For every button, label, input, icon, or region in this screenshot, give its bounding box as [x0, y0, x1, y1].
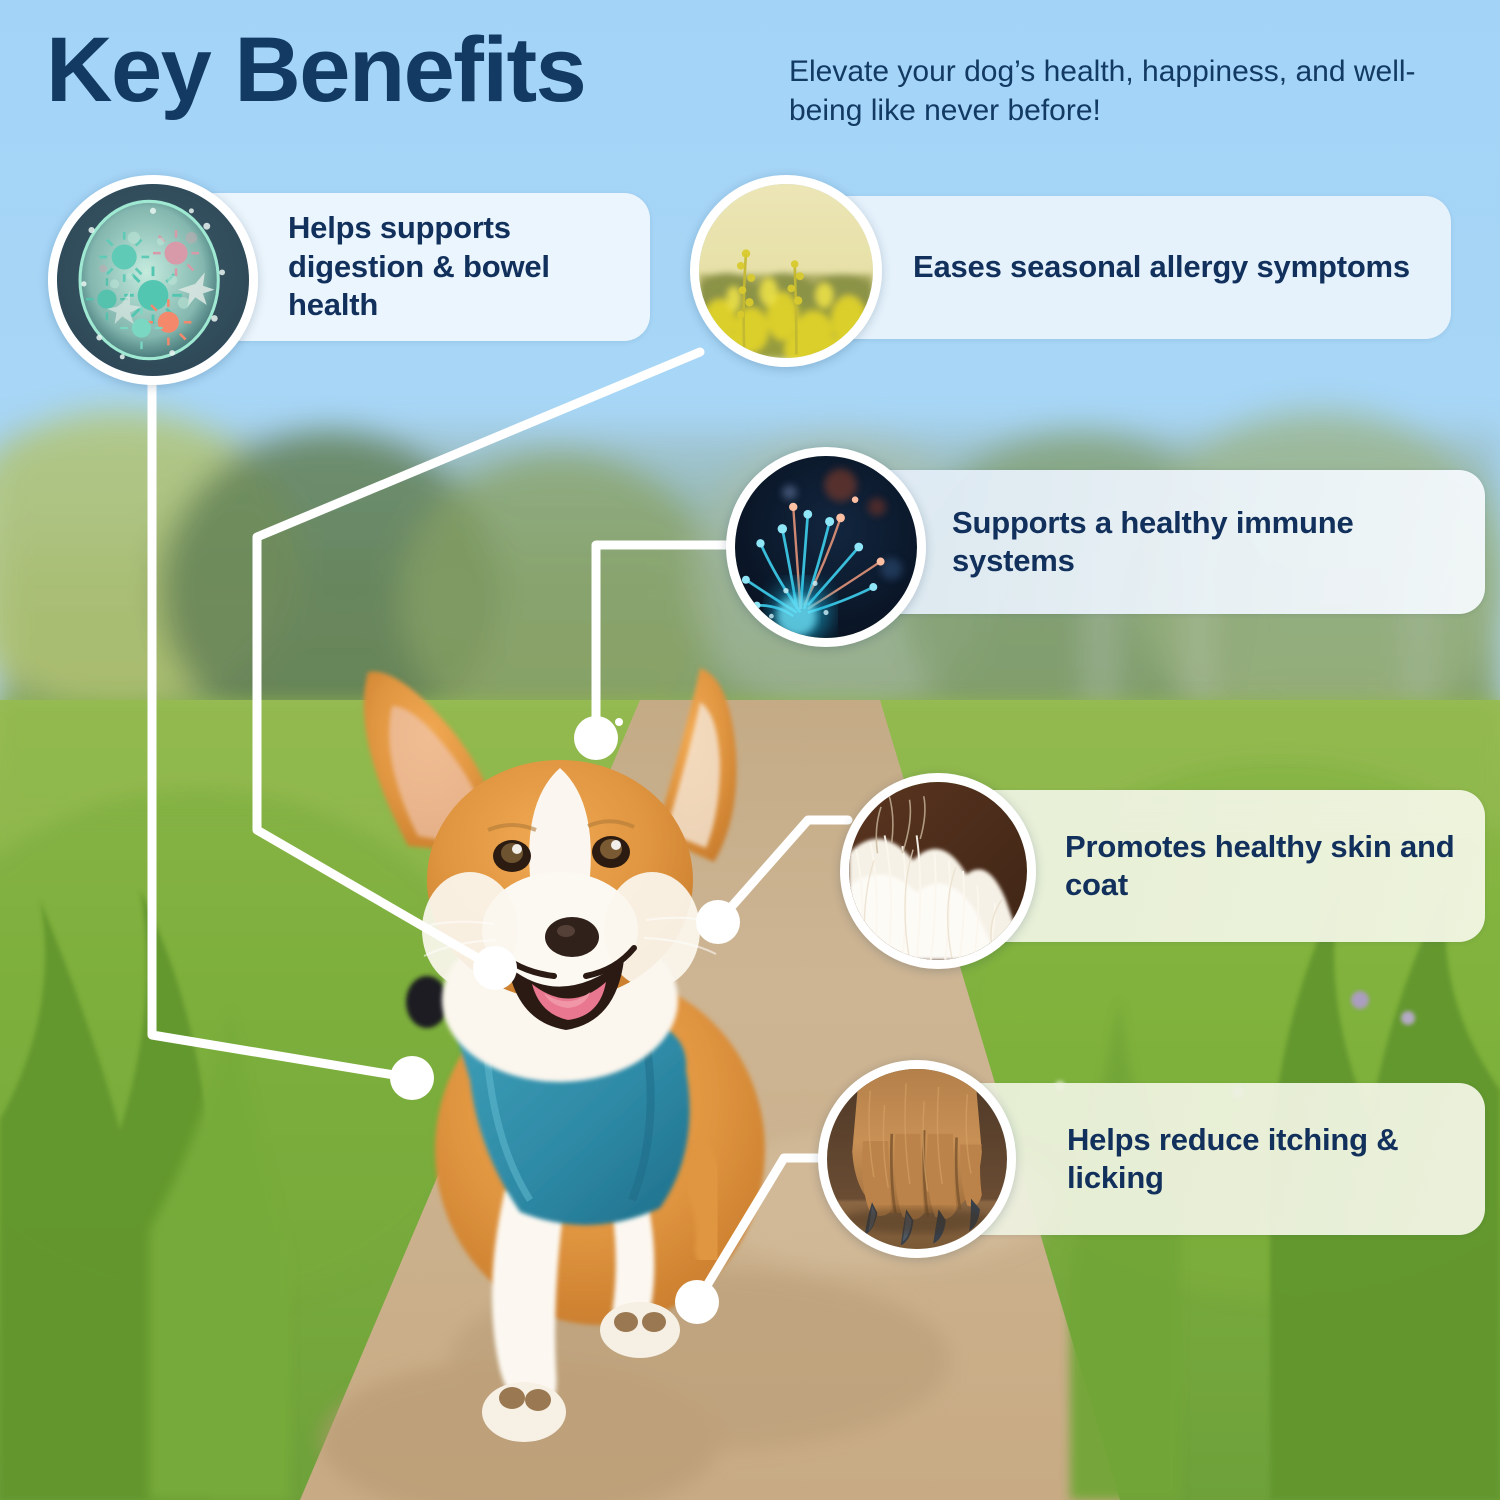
pollen-flowers-icon — [690, 175, 882, 367]
benefit-label-skin-coat: Promotes healthy skin and coat — [1065, 828, 1459, 905]
benefit-card-skin-coat[interactable]: Promotes healthy skin and coat — [965, 790, 1485, 942]
benefit-label-allergy: Eases seasonal allergy symptoms — [913, 248, 1410, 286]
header: Key Benefits Elevate your dog’s health, … — [0, 0, 1500, 175]
benefit-label-immune: Supports a healthy immune systems — [952, 504, 1459, 581]
benefit-card-allergy[interactable]: Eases seasonal allergy symptoms — [808, 196, 1451, 339]
dog-paw-icon — [818, 1060, 1016, 1258]
page-subtitle: Elevate your dog’s health, happiness, an… — [789, 52, 1449, 130]
page-title: Key Benefits — [46, 24, 585, 116]
immune-cell-icon — [726, 447, 926, 647]
benefit-label-digestion: Helps supports digestion & bowel health — [288, 209, 624, 324]
benefit-card-itching[interactable]: Helps reduce itching & licking — [955, 1083, 1485, 1235]
dog-fur-icon — [840, 773, 1036, 969]
benefit-card-immune[interactable]: Supports a healthy immune systems — [845, 470, 1485, 614]
benefit-label-itching: Helps reduce itching & licking — [1067, 1121, 1459, 1198]
probiotic-microbes-icon — [48, 175, 258, 385]
